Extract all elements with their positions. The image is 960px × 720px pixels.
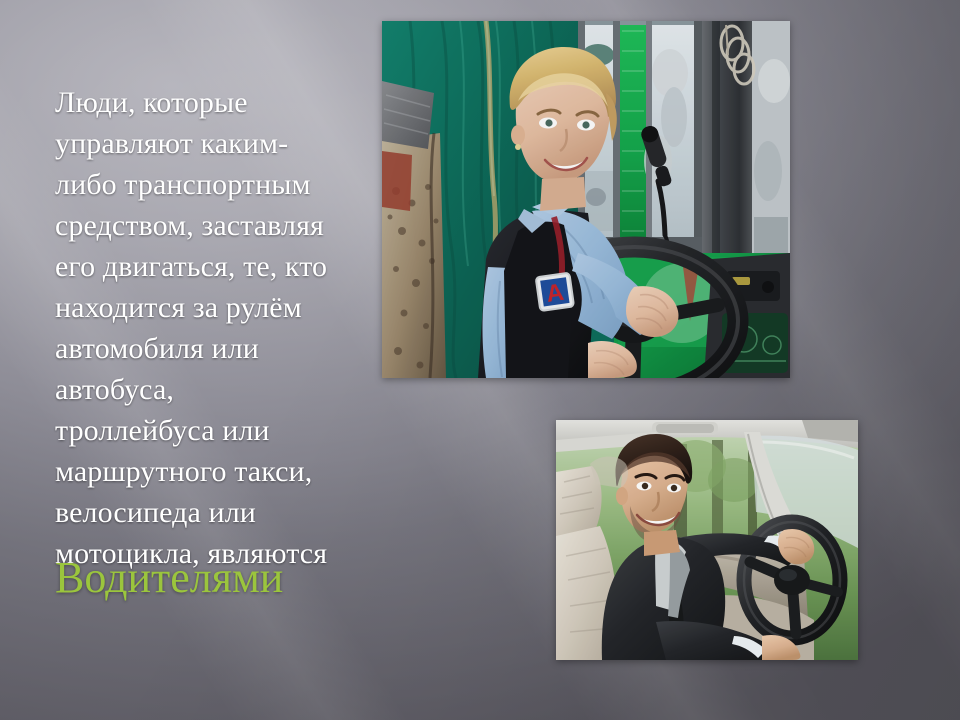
body-line: автобуса,: [55, 369, 355, 410]
body-line: средством, заставляя: [55, 205, 355, 246]
presentation-slide: Люди, которые управляют каким- либо тран…: [0, 0, 960, 720]
body-line: Люди, которые: [55, 82, 355, 123]
body-line: автомобиля или: [55, 328, 355, 369]
body-line: троллейбуса или: [55, 410, 355, 451]
slide-body-text: Люди, которые управляют каким- либо тран…: [55, 82, 355, 574]
body-line: находится за рулём: [55, 287, 355, 328]
body-line: либо транспортным: [55, 164, 355, 205]
body-line: маршрутного такси,: [55, 451, 355, 492]
slide-headline: Водителями: [55, 551, 283, 605]
body-line: управляют каким-: [55, 123, 355, 164]
car-driver-photo: [556, 420, 858, 660]
body-line: велосипеда или: [55, 492, 355, 533]
bus-driver-photo: A: [382, 21, 790, 378]
body-line: его двигаться, те, кто: [55, 246, 355, 287]
